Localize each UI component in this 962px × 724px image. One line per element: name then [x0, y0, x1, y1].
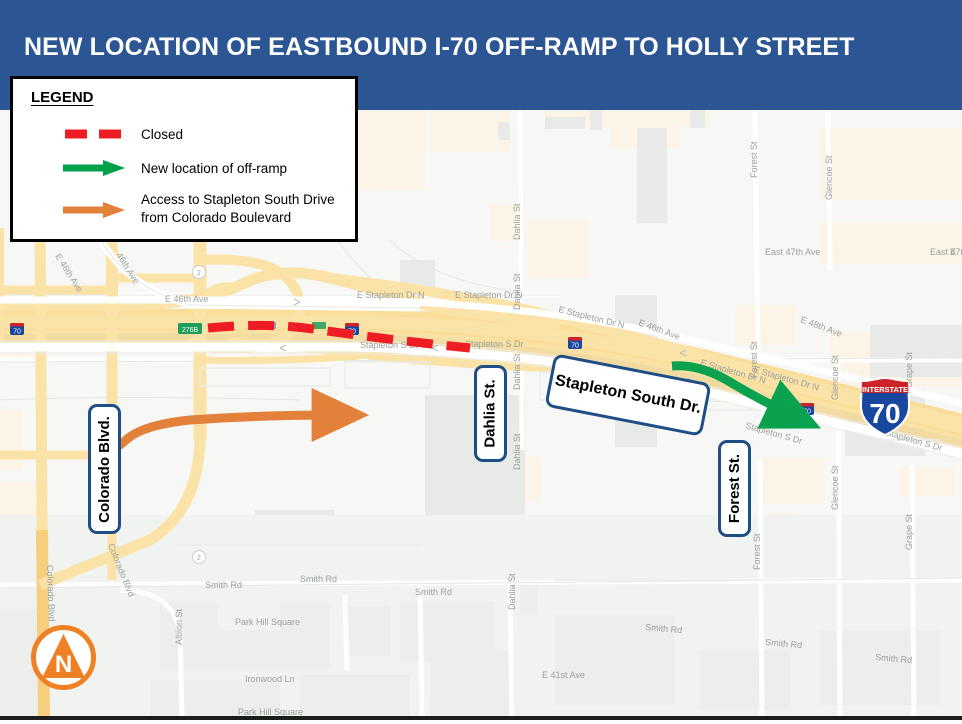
green-arrow-icon [45, 157, 129, 179]
svg-text:276B: 276B [182, 327, 199, 334]
svg-text:2: 2 [197, 270, 201, 277]
legend-item-colorado-access: Access to Stapleton South Drive from Col… [31, 191, 345, 231]
svg-text:E: E [950, 247, 956, 257]
svg-text:Park Hill Square: Park Hill Square [235, 617, 300, 627]
callout-colorado-blvd-label: Colorado Blvd. [96, 416, 113, 523]
svg-text:Smith Rd: Smith Rd [415, 587, 452, 597]
svg-text:70: 70 [13, 329, 21, 336]
svg-text:East 47th Ave: East 47th Ave [765, 247, 820, 257]
legend-label-colorado-access-line1: Access to Stapleton South Drive [141, 191, 335, 208]
svg-text:Forest St: Forest St [749, 341, 759, 378]
legend-label-colorado-access-line2: from Colorado Boulevard [141, 209, 291, 226]
shield-number-text: 70 [869, 398, 900, 429]
shield-interstate-text: INTERSTATE [862, 385, 908, 394]
callout-colorado-blvd[interactable]: Colorado Blvd. [88, 404, 121, 534]
svg-text:Dahlia St: Dahlia St [512, 433, 522, 470]
svg-text:70: 70 [571, 343, 579, 350]
svg-text:Dahlia St: Dahlia St [507, 573, 517, 610]
callout-forest-st-label: Forest St. [726, 454, 743, 523]
compass-letter: N [55, 651, 72, 678]
legend-box: LEGEND Closed New location of off-ramp A… [10, 76, 358, 242]
svg-text:Glencoe St: Glencoe St [830, 465, 840, 510]
legend-label-new-offramp: New location of off-ramp [141, 160, 287, 177]
svg-text:E 46th Ave: E 46th Ave [165, 294, 208, 304]
legend-title: LEGEND [31, 89, 94, 106]
svg-text:Dahlia St: Dahlia St [512, 203, 522, 240]
svg-text:E Stapleton Dr N: E Stapleton Dr N [357, 290, 425, 300]
callout-dahlia-st-label: Dahlia St. [482, 379, 499, 447]
svg-text:Albion St: Albion St [174, 608, 184, 645]
svg-text:Park Hill Square: Park Hill Square [238, 707, 303, 717]
svg-text:Forest St: Forest St [752, 533, 762, 570]
map-graphic-page: NEW LOCATION OF EASTBOUND I-70 OFF-RAMP … [0, 0, 962, 724]
orange-arrow-icon [45, 199, 129, 221]
svg-text:Smith Rd: Smith Rd [300, 574, 337, 584]
svg-text:70: 70 [803, 409, 811, 416]
svg-text:2: 2 [197, 555, 201, 562]
legend-item-closed: Closed [31, 123, 345, 147]
legend-item-new-offramp: New location of off-ramp [31, 157, 345, 181]
svg-text:Glencoe St: Glencoe St [824, 155, 834, 200]
compass-north-icon: N [31, 625, 96, 690]
callout-forest-st[interactable]: Forest St. [718, 440, 751, 537]
interstate-70-shield-icon: INTERSTATE 70 [858, 378, 912, 436]
svg-text:Colorado Blvd: Colorado Blvd [45, 565, 57, 622]
svg-text:E 41st Ave: E 41st Ave [542, 670, 585, 680]
callout-dahlia-st[interactable]: Dahlia St. [474, 365, 507, 462]
callout-stapleton-south-dr-label: Stapleton South Dr. [553, 372, 702, 418]
svg-text:Glencoe St: Glencoe St [830, 355, 840, 400]
svg-text:Dahlia St: Dahlia St [512, 273, 522, 310]
svg-text:Smith Rd: Smith Rd [205, 580, 242, 590]
closed-dashed-line-icon [45, 123, 129, 145]
svg-text:Forest St: Forest St [749, 141, 759, 178]
svg-text:Dahlia St: Dahlia St [512, 353, 522, 390]
legend-label-closed: Closed [141, 126, 183, 143]
svg-text:Stapleton S Dr: Stapleton S Dr [465, 339, 524, 349]
svg-text:Grape St: Grape St [904, 513, 914, 550]
svg-text:East 47th Ave: East 47th Ave [930, 247, 962, 257]
svg-text:Ironwood Ln: Ironwood Ln [245, 674, 295, 684]
page-title: NEW LOCATION OF EASTBOUND I-70 OFF-RAMP … [24, 33, 855, 62]
